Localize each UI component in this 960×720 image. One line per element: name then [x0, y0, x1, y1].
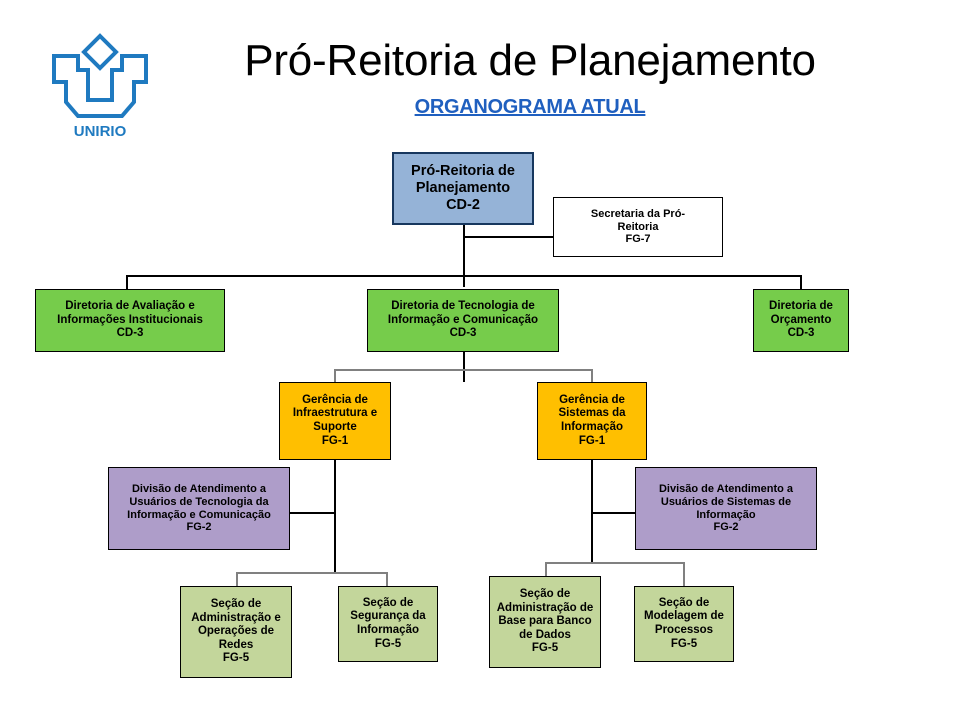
connector-drop-secao-modelagem	[683, 562, 685, 586]
node-line: Diretoria de	[754, 300, 848, 314]
node-gerencia-infraestrutura-suporte[interactable]: Gerência de Infraestrutura e Suporte FG-…	[279, 382, 391, 460]
node-line: CD-3	[368, 327, 558, 341]
node-secao-modelagem-processos[interactable]: Seção de Modelagem de Processos FG-5	[634, 586, 734, 662]
node-line: Diretoria de Tecnologia de	[368, 300, 558, 314]
node-line: Diretoria de Avaliação e	[36, 300, 224, 314]
node-line: Sistemas da	[538, 407, 646, 421]
node-line: FG-2	[109, 521, 289, 534]
connector-tic-stem	[463, 352, 465, 382]
connector-root-stem	[463, 225, 465, 287]
node-line: Usuários de Tecnologia da	[109, 496, 289, 509]
node-secretaria-pro-reitoria[interactable]: Secretaria da Pró- Reitoria FG-7	[553, 197, 723, 257]
node-line: Administração e	[181, 612, 291, 626]
connector-infra-to-divisao	[289, 512, 336, 514]
node-line: FG-5	[339, 638, 437, 652]
node-divisao-atendimento-usuarios-sistemas[interactable]: Divisão de Atendimento a Usuários de Sis…	[635, 467, 817, 550]
node-line: Seção de	[181, 598, 291, 612]
node-secao-administracao-operacoes-redes[interactable]: Seção de Administração e Operações de Re…	[180, 586, 292, 678]
organizational-chart-canvas: UNIRIO Pró-Reitoria de Planejamento ORGA…	[0, 0, 960, 720]
node-line: FG-5	[490, 642, 600, 656]
node-line: Gerência de	[280, 394, 390, 408]
node-line: Divisão de Atendimento a	[109, 483, 289, 496]
node-line: CD-3	[754, 327, 848, 341]
node-diretoria-orcamento[interactable]: Diretoria de Orçamento CD-3	[753, 289, 849, 352]
logo-text: UNIRIO	[74, 123, 127, 140]
node-line: Orçamento	[754, 314, 848, 328]
page-title: Pró-Reitoria de Planejamento	[180, 36, 880, 86]
node-line: de Dados	[490, 629, 600, 643]
node-line: FG-5	[181, 652, 291, 666]
node-line: Operações de	[181, 625, 291, 639]
connector-level1-bus	[126, 275, 802, 277]
node-line: FG-5	[635, 638, 733, 652]
node-line: Informação e Comunicação	[368, 314, 558, 328]
connector-drop-secao-seguranca	[386, 572, 388, 586]
connector-drop-secao-banco	[545, 562, 547, 576]
connector-drop-avaliacao	[126, 275, 128, 289]
node-line: Segurança da	[339, 610, 437, 624]
node-line: Informação	[339, 624, 437, 638]
connector-right-secao-bus	[545, 562, 685, 564]
node-line: Usuários de Sistemas de	[636, 496, 816, 509]
connector-drop-gerencia-sistemas	[591, 369, 593, 383]
node-line: FG-1	[280, 435, 390, 449]
node-line: Seção de	[635, 597, 733, 611]
node-line: Redes	[181, 639, 291, 653]
node-diretoria-tecnologia-informacao[interactable]: Diretoria de Tecnologia de Informação e …	[367, 289, 559, 352]
node-diretoria-avaliacao[interactable]: Diretoria de Avaliação e Informações Ins…	[35, 289, 225, 352]
node-line: Suporte	[280, 421, 390, 435]
connector-drop-orcamento	[800, 275, 802, 289]
node-line: Seção de	[490, 588, 600, 602]
node-line: Divisão de Atendimento a	[636, 483, 816, 496]
connector-left-secao-bus	[236, 572, 388, 574]
node-line: Base para Banco	[490, 615, 600, 629]
unirio-logo: UNIRIO	[44, 24, 156, 140]
connector-sistemas-to-divisao	[591, 512, 636, 514]
node-line: FG-1	[538, 435, 646, 449]
node-gerencia-sistemas-informacao[interactable]: Gerência de Sistemas da Informação FG-1	[537, 382, 647, 460]
node-line: Seção de	[339, 597, 437, 611]
node-line: FG-7	[554, 233, 722, 246]
node-line: Processos	[635, 624, 733, 638]
node-divisao-atendimento-usuarios-tic[interactable]: Divisão de Atendimento a Usuários de Tec…	[108, 467, 290, 550]
connector-level2-bus	[334, 369, 593, 371]
node-line: Informações Institucionais	[36, 314, 224, 328]
connector-root-to-secretaria	[463, 236, 553, 238]
node-pro-reitoria-planejamento[interactable]: Pró-Reitoria de Planejamento CD-2	[392, 152, 534, 225]
node-line: Informação e Comunicação	[109, 509, 289, 522]
node-line: Reitoria	[554, 221, 722, 234]
page-subtitle: ORGANOGRAMA ATUAL	[180, 96, 880, 119]
node-secao-seguranca-informacao[interactable]: Seção de Segurança da Informação FG-5	[338, 586, 438, 662]
node-line: CD-3	[36, 327, 224, 341]
node-line: Secretaria da Pró-	[554, 208, 722, 221]
node-line: Administração de	[490, 602, 600, 616]
node-secao-administracao-banco-dados[interactable]: Seção de Administração de Base para Banc…	[489, 576, 601, 668]
node-line: Informação	[636, 509, 816, 522]
node-line: Infraestrutura e	[280, 407, 390, 421]
connector-infra-stem	[334, 459, 336, 574]
node-line: Gerência de	[538, 394, 646, 408]
node-line: Planejamento	[394, 180, 532, 197]
node-line: Pró-Reitoria de	[394, 163, 532, 180]
node-line: Informação	[538, 421, 646, 435]
node-line: FG-2	[636, 521, 816, 534]
node-line: CD-2	[394, 197, 532, 214]
connector-drop-secao-redes	[236, 572, 238, 586]
connector-drop-gerencia-infra	[334, 369, 336, 383]
node-line: Modelagem de	[635, 610, 733, 624]
